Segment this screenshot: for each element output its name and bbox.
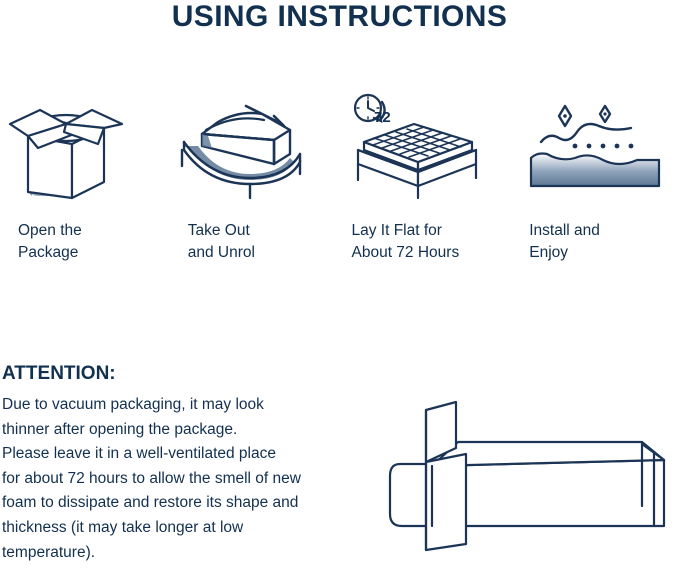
step-take-out-and-unroll: Take Out and Unrol: [170, 88, 340, 264]
step-3-label: Lay It Flat for About 72 Hours: [352, 220, 510, 264]
step-install-and-enjoy: Install and Enjoy: [509, 88, 679, 264]
attention-heading: ATTENTION:: [2, 362, 402, 386]
step-4-artwork: [509, 88, 679, 200]
flat-quilted-mattress-with-72-hour-clock-icon: 72: [344, 88, 494, 200]
step-lay-it-flat: 72 Lay It Flat for About 72 Hours: [340, 88, 510, 264]
steps-row: Open the Package: [0, 88, 679, 264]
step-open-the-package: Open the Package: [0, 88, 170, 264]
open-box-with-rolled-mattress-icon: [8, 88, 138, 200]
step-3-artwork: 72: [340, 88, 510, 200]
step-2-artwork: [170, 88, 340, 200]
clock-hours-value: 72: [374, 109, 391, 126]
step-1-artwork: [0, 88, 170, 200]
attention-block: ATTENTION: Due to vacuum packaging, it m…: [2, 362, 402, 565]
box-illustration-wrapper: [380, 398, 679, 568]
step-2-label: Take Out and Unrol: [188, 220, 340, 264]
unrolling-mattress-on-base-icon: [178, 88, 323, 200]
page-title: USING INSTRUCTIONS: [0, 0, 679, 34]
step-1-label: Open the Package: [18, 220, 170, 264]
step-4-label: Install and Enjoy: [529, 220, 679, 264]
attention-body-text: Due to vacuum packaging, it may look thi…: [2, 393, 402, 565]
fresh-mattress-with-sparkles-icon: [527, 88, 667, 200]
long-open-shipping-box-illustration: [380, 398, 679, 563]
